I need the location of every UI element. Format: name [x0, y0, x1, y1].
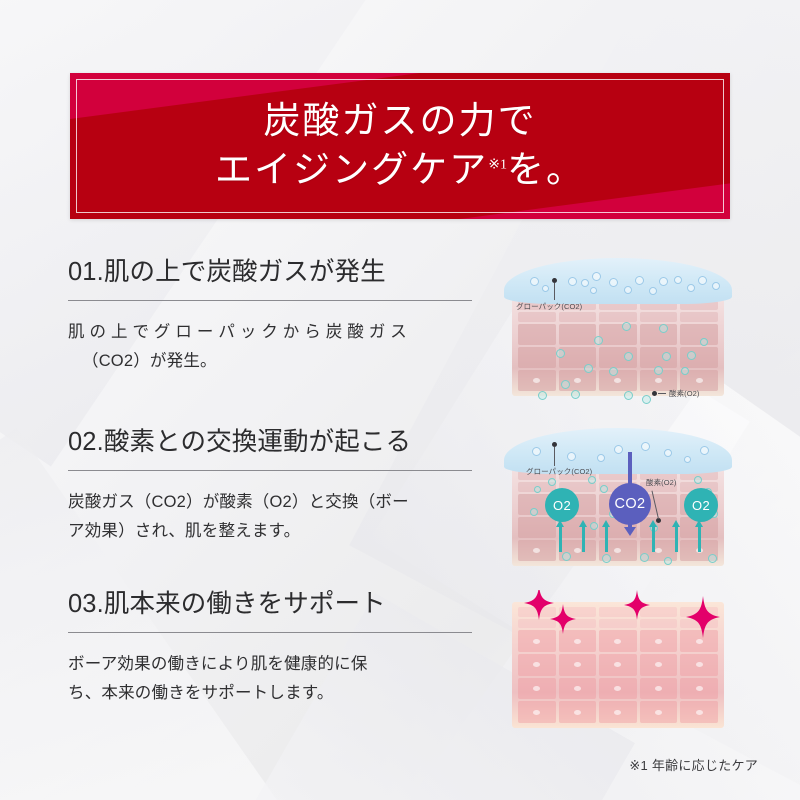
sparkle-icon — [686, 596, 720, 638]
step-divider-02 — [68, 470, 472, 471]
o2-bubble — [642, 395, 651, 404]
step-divider-03 — [68, 632, 472, 633]
co2-bubble — [568, 277, 577, 286]
step-heading-03: 03.肌本来の働きをサポート — [68, 590, 472, 619]
step-row-01: 01.肌の上で炭酸ガスが発生 肌 の 上 で グ ロ ー パ ッ ク か ら 炭… — [68, 258, 732, 404]
skin-cross-section-02: O2 CO2 O2 グローパック(CO2) 酸素(O2) — [504, 428, 732, 574]
o2-bubble — [708, 554, 717, 563]
skin-cell — [559, 701, 597, 723]
skin-cell — [599, 654, 637, 676]
o2-bubble — [590, 522, 598, 530]
o2-bubble — [624, 352, 633, 361]
skin-cell — [680, 654, 718, 676]
step-body-02-line1: 炭酸ガス（CO2）が酸素（O2）と交換（ボー — [68, 488, 472, 516]
skin-cell — [640, 654, 678, 676]
healthy-skin-cross-section — [504, 590, 732, 736]
skin-cross-section-01: グローパック(CO2) 酸素(O2) — [504, 258, 732, 404]
step-body-03: ボーア効果の働きにより肌を健康的に保 ち、本来の働きをサポートします。 — [68, 650, 472, 707]
skin-cell — [559, 654, 597, 676]
skin-cell — [599, 324, 637, 345]
step-body-02-line2: ア効果）され、肌を整えます。 — [68, 517, 472, 545]
skin-cell — [599, 312, 637, 321]
step-body-03-line2: ち、本来の働きをサポートします。 — [68, 679, 472, 707]
o2-bubble — [609, 367, 618, 376]
o2-bubble — [602, 554, 611, 563]
o2-bubble — [584, 364, 593, 373]
co2-bubble — [649, 287, 657, 295]
step-body-02: 炭酸ガス（CO2）が酸素（O2）と交換（ボー ア効果）され、肌を整えます。 — [68, 488, 472, 545]
co2-bubble — [684, 456, 691, 463]
cell-column — [518, 301, 556, 391]
co2-bubble — [581, 279, 589, 287]
step-heading-01: 01.肌の上で炭酸ガスが発生 — [68, 258, 472, 287]
label-oxygen-o2: 酸素(O2) — [646, 477, 676, 488]
skin-cell — [640, 347, 678, 368]
o2-up-arrow — [582, 526, 585, 552]
cell-column — [640, 301, 678, 391]
o2-up-arrow — [605, 526, 608, 552]
label-glowpack-co2: グローパック(CO2) — [526, 466, 592, 477]
o2-bubble — [664, 557, 672, 565]
step-body-01-line2: （CO2）が発生。 — [68, 347, 472, 375]
co2-bubble — [530, 277, 539, 286]
skin-cell — [518, 701, 556, 723]
skin-cell — [518, 324, 556, 345]
o2-bubble — [548, 478, 556, 486]
illustration-02: O2 CO2 O2 グローパック(CO2) 酸素(O2) — [504, 428, 732, 574]
o2-bubble — [534, 486, 541, 493]
banner-title-line1: 炭酸ガスの力で — [263, 98, 536, 145]
o2-bubble — [700, 338, 708, 346]
o2-bubble — [538, 391, 547, 400]
skin-cell — [518, 654, 556, 676]
skin-cell — [640, 619, 678, 629]
o2-up-arrow — [675, 526, 678, 552]
co2-bubble — [567, 452, 576, 461]
illustration-03 — [504, 590, 732, 736]
co2-bubble — [532, 447, 541, 456]
co2-bubble — [590, 287, 597, 294]
o2-bubble — [600, 485, 608, 493]
skin-cell — [599, 370, 637, 391]
co2-bubble — [542, 285, 549, 292]
skin-cell — [559, 324, 597, 345]
step-body-01: 肌 の 上 で グ ロ ー パ ッ ク か ら 炭 酸 ガ ス （CO2）が発生… — [68, 318, 472, 375]
step-copy-01: 01.肌の上で炭酸ガスが発生 肌 の 上 で グ ロ ー パ ッ ク か ら 炭… — [68, 258, 472, 375]
step-heading-02: 02.酸素との交換運動が起こる — [68, 428, 472, 457]
step-body-03-line1: ボーア効果の働きにより肌を健康的に保 — [68, 650, 472, 678]
co2-bubble — [641, 442, 650, 451]
co2-bubble — [609, 278, 618, 287]
label-glowpack-co2: グローパック(CO2) — [516, 301, 582, 312]
label-oxygen-o2: 酸素(O2) — [669, 388, 699, 399]
co2-bubble — [614, 445, 623, 454]
skin-cell — [518, 517, 556, 538]
o2-bubble — [556, 349, 565, 358]
footnote-text: ※1 年齢に応じたケア — [629, 755, 758, 774]
o2-bubble — [622, 322, 631, 331]
skin-cell — [680, 678, 718, 700]
o2-bubble — [687, 351, 696, 360]
co2-bubble — [698, 276, 707, 285]
o2-bubble — [530, 508, 538, 516]
skin-cell — [680, 701, 718, 723]
co2-bubble — [597, 454, 605, 462]
o2-up-arrow — [698, 526, 701, 552]
skin-cell — [640, 312, 678, 321]
step-row-02: 02.酸素との交換運動が起こる 炭酸ガス（CO2）が酸素（O2）と交換（ボー ア… — [68, 428, 732, 574]
illustration-01: グローパック(CO2) 酸素(O2) — [504, 258, 732, 404]
cell-column — [599, 301, 637, 391]
o2-bubble — [588, 476, 596, 484]
co2-bubble — [635, 276, 644, 285]
skin-cell — [559, 312, 597, 321]
skin-cell — [518, 540, 556, 561]
o2-bubble — [594, 336, 603, 345]
co2-bubble — [664, 449, 672, 457]
skin-cell — [599, 630, 637, 652]
skin-cell — [518, 370, 556, 391]
molecule-o2-right: O2 — [684, 488, 718, 522]
step-copy-03: 03.肌本来の働きをサポート ボーア効果の働きにより肌を健康的に保 ち、本来の働… — [68, 590, 472, 707]
step-divider-01 — [68, 300, 472, 301]
o2-bubble — [694, 476, 702, 484]
molecule-co2: CO2 — [609, 483, 651, 525]
o2-bubble — [662, 352, 671, 361]
o2-up-arrow — [559, 526, 562, 552]
skin-cell — [559, 678, 597, 700]
skin-cell — [680, 347, 718, 368]
o2-bubble — [659, 324, 668, 333]
o2-bubble — [562, 552, 571, 561]
co2-bubble — [624, 286, 632, 294]
banner-title-line2-tail: を。 — [507, 150, 585, 191]
skin-cell — [599, 678, 637, 700]
banner-title-line2-main: エイジングケア — [215, 150, 488, 191]
skin-cell — [518, 312, 556, 321]
co2-callout-leader — [554, 447, 555, 466]
sparkle-icon — [624, 590, 650, 620]
step-copy-02: 02.酸素との交換運動が起こる 炭酸ガス（CO2）が酸素（O2）と交換（ボー ア… — [68, 428, 472, 545]
o2-callout-dot — [652, 391, 657, 396]
skin-cell — [640, 630, 678, 652]
cell-column — [680, 301, 718, 391]
co2-bubble — [659, 277, 668, 286]
banner-title-footnote-marker: ※1 — [488, 158, 507, 173]
o2-bubble — [654, 366, 663, 375]
o2-callout-leader — [658, 393, 666, 394]
skin-cell — [518, 347, 556, 368]
co2-callout-leader — [554, 283, 555, 300]
o2-bubble — [640, 553, 649, 562]
step-row-03: 03.肌本来の働きをサポート ボーア効果の働きにより肌を健康的に保 ち、本来の働… — [68, 590, 732, 736]
skin-cell — [680, 312, 718, 321]
skin-cell — [640, 678, 678, 700]
hero-banner: 炭酸ガスの力で エイジングケア※1を。 — [70, 73, 730, 219]
co2-bubble — [712, 282, 720, 290]
o2-bubble — [624, 391, 633, 400]
banner-title-line2: エイジングケア※1を。 — [215, 147, 585, 194]
cell-column — [559, 301, 597, 391]
skin-cell — [640, 701, 678, 723]
sparkle-icon — [550, 604, 576, 634]
cell-column — [599, 607, 637, 723]
molecule-o2-left: O2 — [545, 488, 579, 522]
skin-cell — [599, 619, 637, 629]
o2-bubble — [681, 367, 689, 375]
skin-cell — [518, 678, 556, 700]
co2-bubble — [700, 446, 709, 455]
step-body-01-line1: 肌 の 上 で グ ロ ー パ ッ ク か ら 炭 酸 ガ ス — [68, 318, 472, 346]
co2-bubble — [674, 276, 682, 284]
co2-bubble — [592, 272, 601, 281]
o2-bubble — [561, 380, 570, 389]
o2-bubble — [571, 390, 580, 399]
o2-up-arrow — [652, 526, 655, 552]
co2-bubble — [687, 284, 695, 292]
skin-cell — [599, 701, 637, 723]
cell-column — [640, 607, 678, 723]
